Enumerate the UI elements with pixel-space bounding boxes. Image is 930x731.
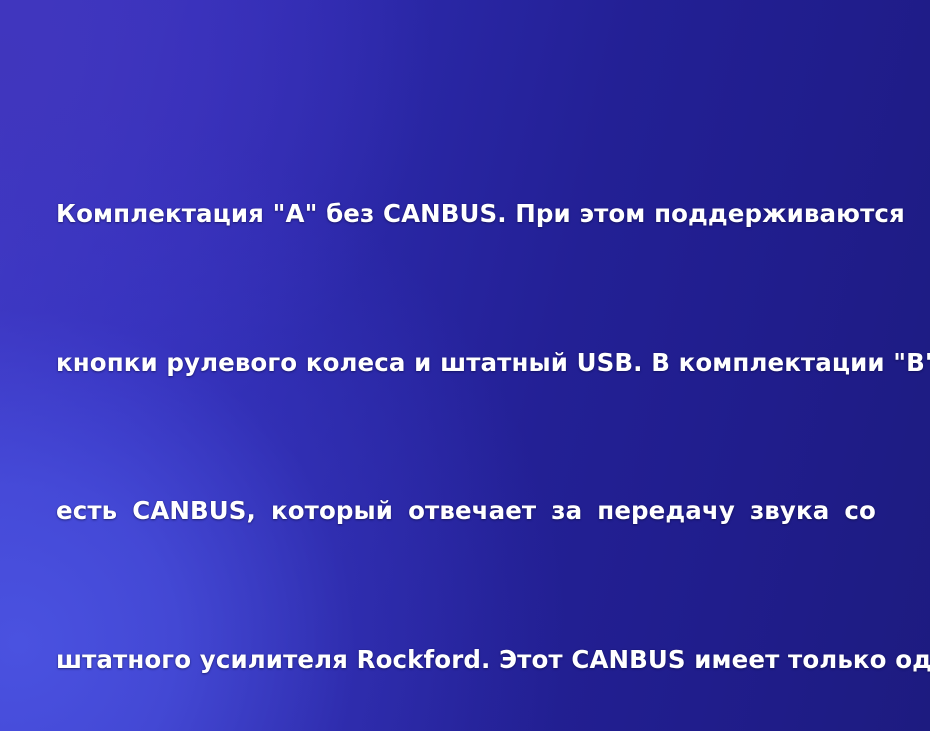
text-line: штатного усилителя Rockford. Этот CANBUS… [56, 635, 876, 685]
body-text-block: Комплектация "А" без CANBUS. При этом по… [56, 40, 876, 731]
slide-canvas: Комплектация "А" без CANBUS. При этом по… [0, 0, 930, 731]
text-line: есть CANBUS, который отвечает за передач… [56, 486, 876, 536]
text-line: кнопки рулевого колеса и штатный USB. В … [56, 338, 876, 388]
text-line: Комплектация "А" без CANBUS. При этом по… [56, 189, 876, 239]
